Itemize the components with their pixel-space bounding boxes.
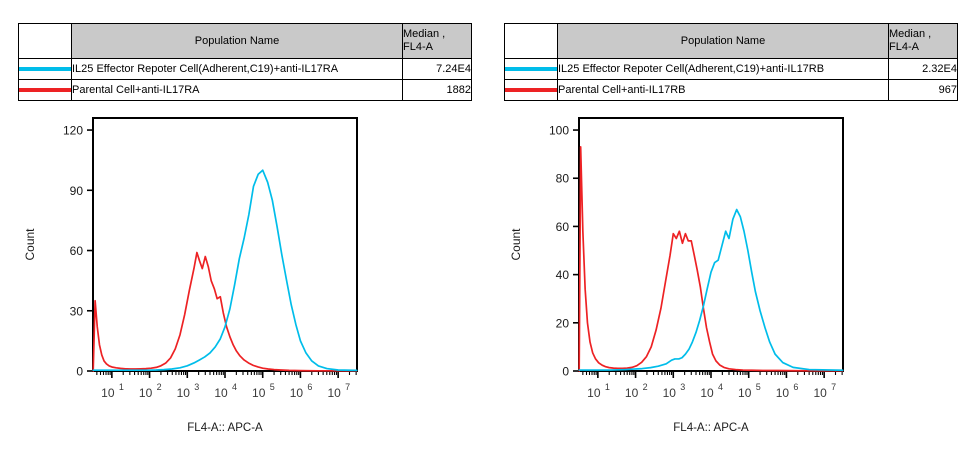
header-median: Median , FL4-A xyxy=(889,24,958,59)
header-median-line2: FL4-A xyxy=(403,41,471,54)
y-tick-label: 90 xyxy=(70,184,84,198)
svg-text:10: 10 xyxy=(252,386,266,400)
svg-text:10: 10 xyxy=(327,386,341,400)
population-stats-table: Population Name Median , FL4-A IL25 Effe… xyxy=(504,23,958,101)
median-value-cell: 967 xyxy=(889,80,958,101)
median-value-cell: 2.32E4 xyxy=(889,59,958,80)
x-axis-title: FL4-A:: APC-A xyxy=(187,422,263,434)
x-tick-label: 102 xyxy=(625,382,648,400)
legend-swatch-cell xyxy=(505,80,558,101)
y-tick-label: 0 xyxy=(562,365,569,379)
population-name-cell: Parental Cell+anti-IL17RB xyxy=(558,80,889,101)
y-tick-label: 30 xyxy=(70,304,84,318)
y-tick-label: 60 xyxy=(556,220,570,234)
population-stats-table: Population Name Median , FL4-A IL25 Effe… xyxy=(18,23,472,101)
svg-text:10: 10 xyxy=(700,386,714,400)
svg-text:7: 7 xyxy=(831,382,836,392)
x-tick-label: 106 xyxy=(290,382,313,400)
x-tick-label: 105 xyxy=(252,382,275,400)
population-name-cell: IL25 Effector Repoter Cell(Adherent,C19)… xyxy=(72,59,403,80)
svg-text:4: 4 xyxy=(718,382,723,392)
panel-il17ra: Population Name Median , FL4-A IL25 Effe… xyxy=(0,0,486,460)
svg-text:1: 1 xyxy=(119,382,124,392)
svg-text:5: 5 xyxy=(756,382,761,392)
histogram-trace xyxy=(93,253,356,371)
median-value-cell: 7.24E4 xyxy=(403,59,472,80)
header-swatch-blank xyxy=(505,24,558,59)
svg-text:3: 3 xyxy=(194,382,199,392)
svg-text:10: 10 xyxy=(214,386,228,400)
svg-text:10: 10 xyxy=(139,386,153,400)
svg-text:10: 10 xyxy=(177,386,191,400)
svg-text:10: 10 xyxy=(813,386,827,400)
legend-swatch-cell xyxy=(505,59,558,80)
svg-text:2: 2 xyxy=(157,382,162,392)
y-tick-label: 120 xyxy=(63,124,83,138)
x-tick-label: 104 xyxy=(700,382,723,400)
population-name-cell: Parental Cell+anti-IL17RA xyxy=(72,80,403,101)
y-tick-label: 60 xyxy=(70,244,84,258)
histogram-svg: 0306090120Count101102103104105106107FL4-… xyxy=(0,112,486,460)
table-row: IL25 Effector Repoter Cell(Adherent,C19)… xyxy=(505,59,958,80)
svg-text:3: 3 xyxy=(680,382,685,392)
svg-text:2: 2 xyxy=(643,382,648,392)
svg-text:10: 10 xyxy=(587,386,601,400)
table-row: Parental Cell+anti-IL17RB 967 xyxy=(505,80,958,101)
y-tick-label: 40 xyxy=(556,268,570,282)
y-axis-title: Count xyxy=(23,228,37,261)
median-value-cell: 1882 xyxy=(403,80,472,101)
y-tick-label: 20 xyxy=(556,316,570,330)
header-median: Median , FL4-A xyxy=(403,24,472,59)
svg-text:10: 10 xyxy=(101,386,115,400)
header-median-line1: Median , xyxy=(403,28,471,41)
svg-text:10: 10 xyxy=(776,386,790,400)
svg-text:10: 10 xyxy=(738,386,752,400)
panel-il17rb: Population Name Median , FL4-A IL25 Effe… xyxy=(486,0,972,460)
table-row: Parental Cell+anti-IL17RA 1882 xyxy=(19,80,472,101)
y-tick-label: 0 xyxy=(76,365,83,379)
histogram-trace xyxy=(93,170,356,370)
svg-text:1: 1 xyxy=(605,382,610,392)
x-tick-label: 101 xyxy=(587,382,610,400)
histogram-chart-il17ra: 0306090120Count101102103104105106107FL4-… xyxy=(0,112,486,460)
x-axis-title: FL4-A:: APC-A xyxy=(673,422,749,434)
svg-text:10: 10 xyxy=(290,386,304,400)
x-tick-label: 103 xyxy=(663,382,686,400)
svg-text:10: 10 xyxy=(625,386,639,400)
svg-text:5: 5 xyxy=(270,382,275,392)
histogram-trace xyxy=(579,147,842,371)
legend-swatch-cyan xyxy=(19,67,71,71)
table-row: IL25 Effector Repoter Cell(Adherent,C19)… xyxy=(19,59,472,80)
header-median-line2: FL4-A xyxy=(889,41,957,54)
header-swatch-blank xyxy=(19,24,72,59)
y-axis-title: Count xyxy=(509,228,523,261)
x-tick-label: 106 xyxy=(776,382,799,400)
figure-canvas: Population Name Median , FL4-A IL25 Effe… xyxy=(0,0,972,460)
legend-swatch-cyan xyxy=(505,67,557,71)
svg-text:7: 7 xyxy=(345,382,350,392)
population-name-cell: IL25 Effector Repoter Cell(Adherent,C19)… xyxy=(558,59,889,80)
svg-text:6: 6 xyxy=(307,382,312,392)
histogram-chart-il17rb: 020406080100Count101102103104105106107FL… xyxy=(486,112,972,460)
y-tick-label: 80 xyxy=(556,172,570,186)
svg-text:4: 4 xyxy=(232,382,237,392)
x-tick-label: 107 xyxy=(327,382,350,400)
header-median-line1: Median , xyxy=(889,28,957,41)
table-header-row: Population Name Median , FL4-A xyxy=(505,24,958,59)
svg-text:6: 6 xyxy=(793,382,798,392)
legend-swatch-cell xyxy=(19,80,72,101)
header-population-name: Population Name xyxy=(558,24,889,59)
legend-swatch-red xyxy=(19,88,71,92)
header-population-name: Population Name xyxy=(72,24,403,59)
y-tick-label: 100 xyxy=(549,124,569,138)
table-header-row: Population Name Median , FL4-A xyxy=(19,24,472,59)
histogram-svg: 020406080100Count101102103104105106107FL… xyxy=(486,112,972,460)
legend-swatch-cell xyxy=(19,59,72,80)
x-tick-label: 105 xyxy=(738,382,761,400)
x-tick-label: 107 xyxy=(813,382,836,400)
x-tick-label: 103 xyxy=(177,382,200,400)
legend-swatch-red xyxy=(505,88,557,92)
x-tick-label: 101 xyxy=(101,382,124,400)
x-tick-label: 102 xyxy=(139,382,162,400)
x-tick-label: 104 xyxy=(214,382,237,400)
svg-text:10: 10 xyxy=(663,386,677,400)
